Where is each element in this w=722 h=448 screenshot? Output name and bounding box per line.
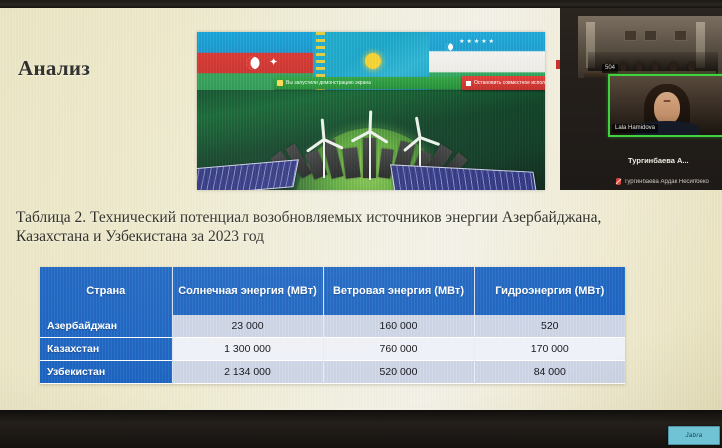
renewable-energy-banner-image: ✦ ★★★★★ <box>197 32 545 190</box>
cell-solar: 1 300 000 <box>172 338 323 361</box>
stop-share-button[interactable]: Остановить совместное использование <box>462 76 545 90</box>
table-row: Азербайджан 23 000 160 000 520 <box>40 315 625 338</box>
stop-share-label: Остановить совместное использование <box>474 80 545 86</box>
cell-wind: 160 000 <box>323 315 474 338</box>
table-caption: Таблица 2. Технический потенциал возобно… <box>16 208 656 246</box>
column-header-wind: Ветровая энергия (МВт) <box>323 267 474 315</box>
table-header-row: Страна Солнечная энергия (МВт) Ветровая … <box>40 267 625 315</box>
cell-wind: 760 000 <box>323 338 474 361</box>
cell-country: Узбекистан <box>40 361 172 384</box>
bezel-brand-sticker: Jabra <box>668 426 720 445</box>
cell-country: Казахстан <box>40 338 172 361</box>
green-planet-illustration <box>197 90 545 190</box>
cell-country: Азербайджан <box>40 315 172 338</box>
cell-solar: 23 000 <box>172 315 323 338</box>
cell-hydro: 84 000 <box>474 361 625 384</box>
microphone-muted-icon <box>616 178 621 185</box>
column-header-country: Страна <box>40 267 172 315</box>
cell-hydro: 170 000 <box>474 338 625 361</box>
room-tile-label: 504 <box>602 64 618 73</box>
cell-solar: 2 134 000 <box>172 361 323 384</box>
active-speaker-name: Тургинбаева А... <box>628 156 720 165</box>
screen-bezel-top <box>0 0 722 8</box>
room-video-tile[interactable] <box>578 16 722 78</box>
renewable-potential-table: Страна Солнечная энергия (МВт) Ветровая … <box>40 267 625 384</box>
speaker-tile-name-label: Lala Hamidova <box>612 124 658 133</box>
cell-wind: 520 000 <box>323 361 474 384</box>
solar-panel-right <box>390 164 538 190</box>
screen-bezel-bottom <box>0 410 722 448</box>
solar-panel-left <box>197 159 299 190</box>
participant-list-item[interactable]: Тургинбаева Ардак Несипбеко <box>616 178 722 185</box>
stop-square-icon <box>466 81 471 86</box>
participant-name: Тургинбаева Ардак Несипбеко <box>624 179 709 185</box>
projected-slide-photo: Анализ ✦ ★★★★★ <box>0 0 722 448</box>
table-row: Узбекистан 2 134 000 520 000 84 000 <box>40 361 625 384</box>
column-header-hydro: Гидроэнергия (МВт) <box>474 267 625 315</box>
active-speaker-video-tile[interactable]: Lala Hamidova <box>608 74 722 137</box>
microphone-icon[interactable] <box>277 80 283 86</box>
table-row: Казахстан 1 300 000 760 000 170 000 <box>40 338 625 361</box>
cell-hydro: 520 <box>474 315 625 338</box>
zoom-video-panel: 504 Lala Hamidova Тургинбаева А... Турги… <box>560 8 722 190</box>
page-title: Анализ <box>18 56 90 81</box>
column-header-solar: Солнечная энергия (МВт) <box>172 267 323 315</box>
